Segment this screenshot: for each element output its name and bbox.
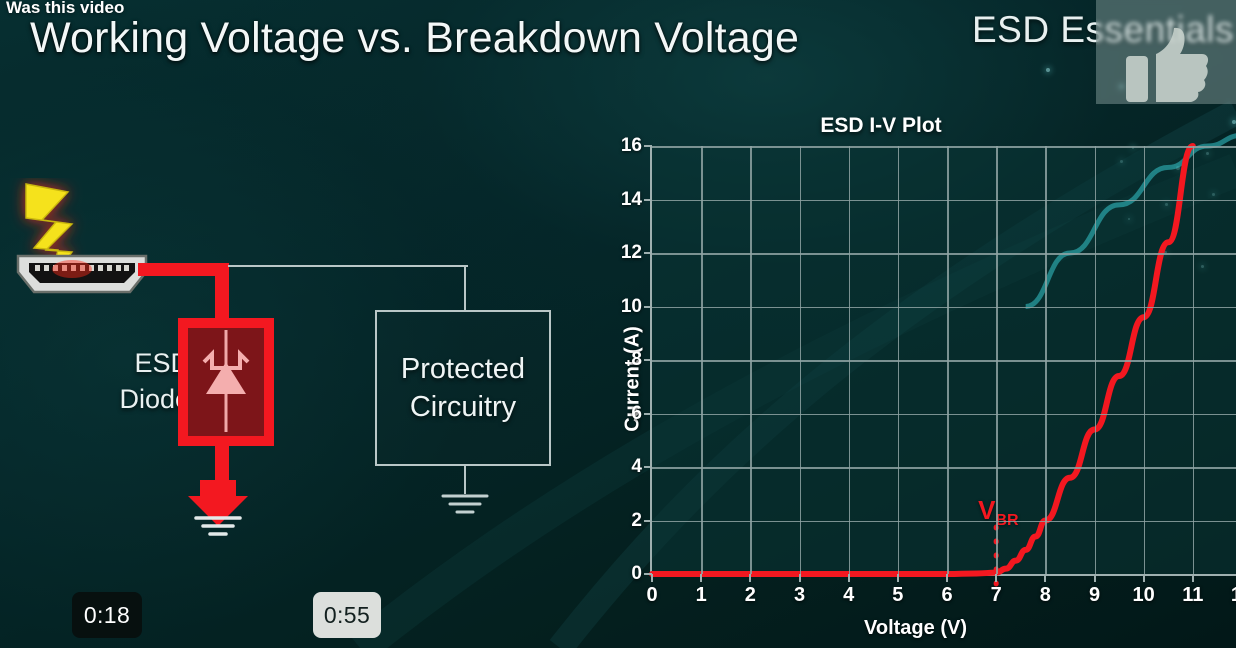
x-tick-mark xyxy=(1192,574,1194,582)
gridline-vertical xyxy=(1193,146,1195,574)
x-tick-label: 1 xyxy=(696,584,707,607)
esd-diode-label-line1: ESD xyxy=(70,345,190,381)
timestamp-badge-end[interactable]: 0:55 xyxy=(313,592,381,638)
protected-circuitry-line2: Circuitry xyxy=(410,388,516,426)
x-tick-label: 8 xyxy=(1040,584,1051,607)
circuit-diagram: ESD Diode Protected Circuitry xyxy=(0,150,600,570)
gridline-horizontal xyxy=(652,360,1236,362)
protected-circuitry-line1: Protected xyxy=(401,350,525,388)
x-tick-mark xyxy=(799,574,801,582)
x-tick-label: 6 xyxy=(941,584,952,607)
esd-diode-label: ESD Diode xyxy=(70,345,190,418)
x-tick-mark xyxy=(1044,574,1046,582)
gridline-vertical xyxy=(898,146,900,574)
x-tick-label: 9 xyxy=(1089,584,1100,607)
y-tick-label: 12 xyxy=(621,242,642,264)
y-tick-label: 0 xyxy=(631,563,642,585)
y-tick-label: 4 xyxy=(631,456,642,478)
wire-signal-horizontal xyxy=(228,265,468,267)
x-tick-label: 3 xyxy=(794,584,805,607)
x-tick-label: 11 xyxy=(1182,584,1203,607)
chart-accent-curve xyxy=(1026,135,1236,306)
video-feedback-overlay[interactable] xyxy=(1096,0,1236,104)
page-title: Working Voltage vs. Breakdown Voltage xyxy=(30,14,799,63)
gridline-vertical xyxy=(996,146,998,574)
y-tick-label: 6 xyxy=(631,403,642,425)
y-tick-mark xyxy=(644,466,652,468)
thumbs-up-icon[interactable] xyxy=(1124,24,1210,104)
gridline-vertical xyxy=(1045,146,1047,574)
x-tick-label: 5 xyxy=(892,584,903,607)
y-tick-mark xyxy=(644,145,652,147)
ground-icon-diode xyxy=(178,480,268,538)
y-tick-mark xyxy=(644,413,652,415)
y-tick-label: 10 xyxy=(621,296,642,318)
y-tick-mark xyxy=(644,306,652,308)
x-tick-mark xyxy=(749,574,751,582)
wire-red-vertical-top xyxy=(215,263,229,325)
x-tick-mark xyxy=(995,574,997,582)
wire-signal-vertical xyxy=(464,265,466,311)
x-tick-mark xyxy=(897,574,899,582)
y-tick-mark xyxy=(644,520,652,522)
gridline-vertical xyxy=(849,146,851,574)
x-tick-mark xyxy=(946,574,948,582)
ground-icon-protected xyxy=(437,492,493,522)
esd-diode-label-line2: Diode xyxy=(70,381,190,417)
gridline-horizontal xyxy=(652,253,1236,255)
x-tick-mark xyxy=(651,574,653,582)
slide-canvas: Working Voltage vs. Breakdown Voltage ES… xyxy=(0,0,1236,648)
esd-iv-chart: ESD I-V Plot Current (A) Voltage (V) VBR… xyxy=(586,110,1236,648)
x-tick-label: 4 xyxy=(843,584,854,607)
y-tick-label: 2 xyxy=(631,510,642,532)
hdmi-connector-icon xyxy=(12,252,152,298)
gridline-vertical xyxy=(750,146,752,574)
gridline-vertical xyxy=(701,146,703,574)
y-tick-label: 8 xyxy=(631,349,642,371)
gridline-horizontal xyxy=(652,146,1236,148)
gridline-horizontal xyxy=(652,467,1236,469)
chart-plot-area: VBR 02468101214160123456789101112 xyxy=(650,146,1236,576)
x-tick-label: 0 xyxy=(646,584,657,607)
protected-circuitry-block: Protected Circuitry xyxy=(375,310,551,466)
x-tick-mark xyxy=(1094,574,1096,582)
y-tick-mark xyxy=(644,359,652,361)
x-tick-mark xyxy=(1143,574,1145,582)
gridline-vertical xyxy=(1144,146,1146,574)
wire-protected-ground xyxy=(464,466,466,494)
x-tick-label: 12 xyxy=(1231,584,1236,607)
overlay-question-text: Was this video xyxy=(6,0,176,18)
y-tick-label: 16 xyxy=(621,135,642,157)
chart-x-axis-label: Voltage (V) xyxy=(650,617,1236,640)
gridline-horizontal xyxy=(652,307,1236,309)
gridline-vertical xyxy=(947,146,949,574)
x-tick-label: 2 xyxy=(745,584,756,607)
x-tick-label: 10 xyxy=(1133,584,1155,607)
gridline-vertical xyxy=(800,146,802,574)
timestamp-badge-start[interactable]: 0:18 xyxy=(72,592,142,638)
x-tick-mark xyxy=(848,574,850,582)
gridline-horizontal xyxy=(652,414,1236,416)
gridline-vertical xyxy=(1095,146,1097,574)
esd-diode-component xyxy=(178,318,274,446)
zener-diode-icon xyxy=(188,328,264,436)
gridline-horizontal xyxy=(652,200,1236,202)
y-tick-mark xyxy=(644,252,652,254)
x-tick-mark xyxy=(700,574,702,582)
chart-title: ESD I-V Plot xyxy=(586,114,1236,138)
y-tick-label: 14 xyxy=(621,189,642,211)
gridline-horizontal xyxy=(652,521,1236,523)
breakdown-voltage-annotation: VBR xyxy=(978,495,1018,530)
y-tick-mark xyxy=(644,199,652,201)
x-tick-label: 7 xyxy=(991,584,1002,607)
